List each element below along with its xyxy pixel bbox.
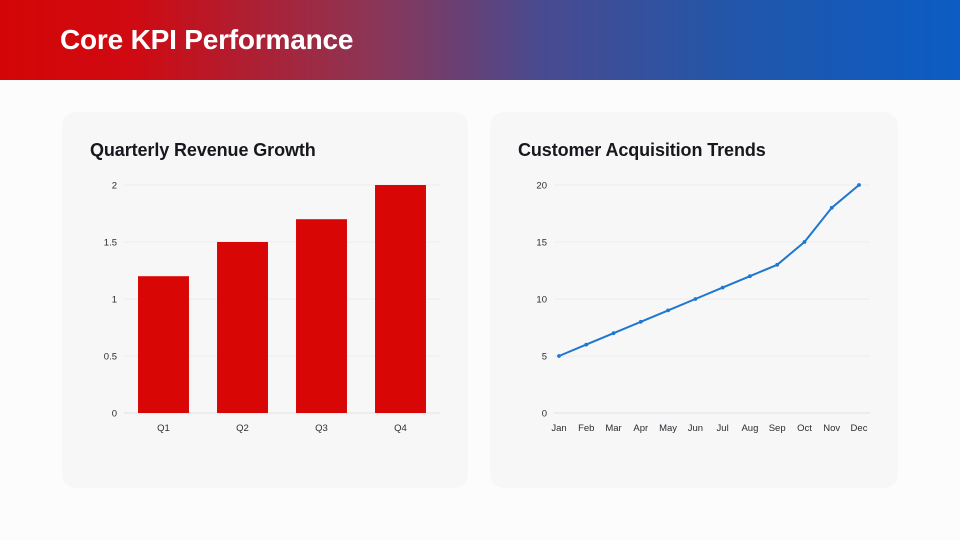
data-point-sep bbox=[775, 263, 779, 267]
card-quarterly-revenue-growth: Quarterly Revenue Growth 00.511.52Q1Q2Q3… bbox=[62, 112, 468, 488]
bar-x-tick-label: Q4 bbox=[394, 423, 407, 434]
header-banner: Core KPI Performance bbox=[0, 0, 960, 80]
line-x-tick-label: Sep bbox=[769, 423, 786, 434]
data-point-nov bbox=[830, 206, 834, 210]
data-point-feb bbox=[584, 343, 588, 347]
bar-chart-svg: 00.511.52Q1Q2Q3Q4 bbox=[84, 175, 446, 475]
chart-title-line: Customer Acquisition Trends bbox=[518, 140, 876, 161]
data-point-may bbox=[666, 309, 670, 313]
line-x-tick-label: Jun bbox=[688, 423, 703, 434]
line-x-tick-label: Oct bbox=[797, 423, 812, 434]
data-point-dec bbox=[857, 183, 861, 187]
line-x-tick-label: Aug bbox=[741, 423, 758, 434]
bar-y-tick-label: 1.5 bbox=[104, 238, 117, 249]
data-point-mar bbox=[612, 331, 616, 335]
line-x-tick-label: Dec bbox=[851, 423, 868, 434]
line-y-tick-label: 0 bbox=[542, 409, 547, 420]
bar-q2 bbox=[217, 242, 268, 413]
data-point-aug bbox=[748, 274, 752, 278]
bar-chart-plot: 00.511.52Q1Q2Q3Q4 bbox=[84, 175, 446, 475]
line-chart-svg: 05101520JanFebMarAprMayJunJulAugSepOctNo… bbox=[512, 175, 876, 475]
line-chart-plot: 05101520JanFebMarAprMayJunJulAugSepOctNo… bbox=[512, 175, 876, 475]
line-x-tick-label: Jan bbox=[551, 423, 566, 434]
line-y-tick-label: 20 bbox=[536, 181, 547, 192]
line-x-tick-label: Mar bbox=[605, 423, 621, 434]
line-x-tick-label: Apr bbox=[633, 423, 648, 434]
line-x-tick-label: May bbox=[659, 423, 677, 434]
slide: Core KPI Performance Quarterly Revenue G… bbox=[0, 0, 960, 540]
data-point-jun bbox=[693, 297, 697, 301]
bar-x-tick-label: Q2 bbox=[236, 423, 249, 434]
line-y-tick-label: 5 bbox=[542, 352, 547, 363]
line-x-tick-label: Nov bbox=[823, 423, 840, 434]
page-title: Core KPI Performance bbox=[60, 24, 353, 56]
chart-title-bar: Quarterly Revenue Growth bbox=[90, 140, 446, 161]
data-point-jul bbox=[721, 286, 725, 290]
line-x-tick-label: Feb bbox=[578, 423, 594, 434]
bar-x-tick-label: Q1 bbox=[157, 423, 170, 434]
data-point-oct bbox=[803, 240, 807, 244]
bar-y-tick-label: 1 bbox=[112, 295, 117, 306]
bar-y-tick-label: 2 bbox=[112, 181, 117, 192]
data-point-apr bbox=[639, 320, 643, 324]
line-y-tick-label: 15 bbox=[536, 238, 547, 249]
trend-line bbox=[559, 185, 859, 356]
bar-q3 bbox=[296, 219, 347, 413]
bar-q4 bbox=[375, 185, 426, 413]
card-customer-acquisition-trends: Customer Acquisition Trends 05101520JanF… bbox=[490, 112, 898, 488]
line-x-tick-label: Jul bbox=[717, 423, 729, 434]
bar-y-tick-label: 0.5 bbox=[104, 352, 117, 363]
line-y-tick-label: 10 bbox=[536, 295, 547, 306]
bar-x-tick-label: Q3 bbox=[315, 423, 328, 434]
cards-container: Quarterly Revenue Growth 00.511.52Q1Q2Q3… bbox=[0, 80, 960, 540]
bar-q1 bbox=[138, 276, 189, 413]
data-point-jan bbox=[557, 354, 561, 358]
bar-y-tick-label: 0 bbox=[112, 409, 117, 420]
